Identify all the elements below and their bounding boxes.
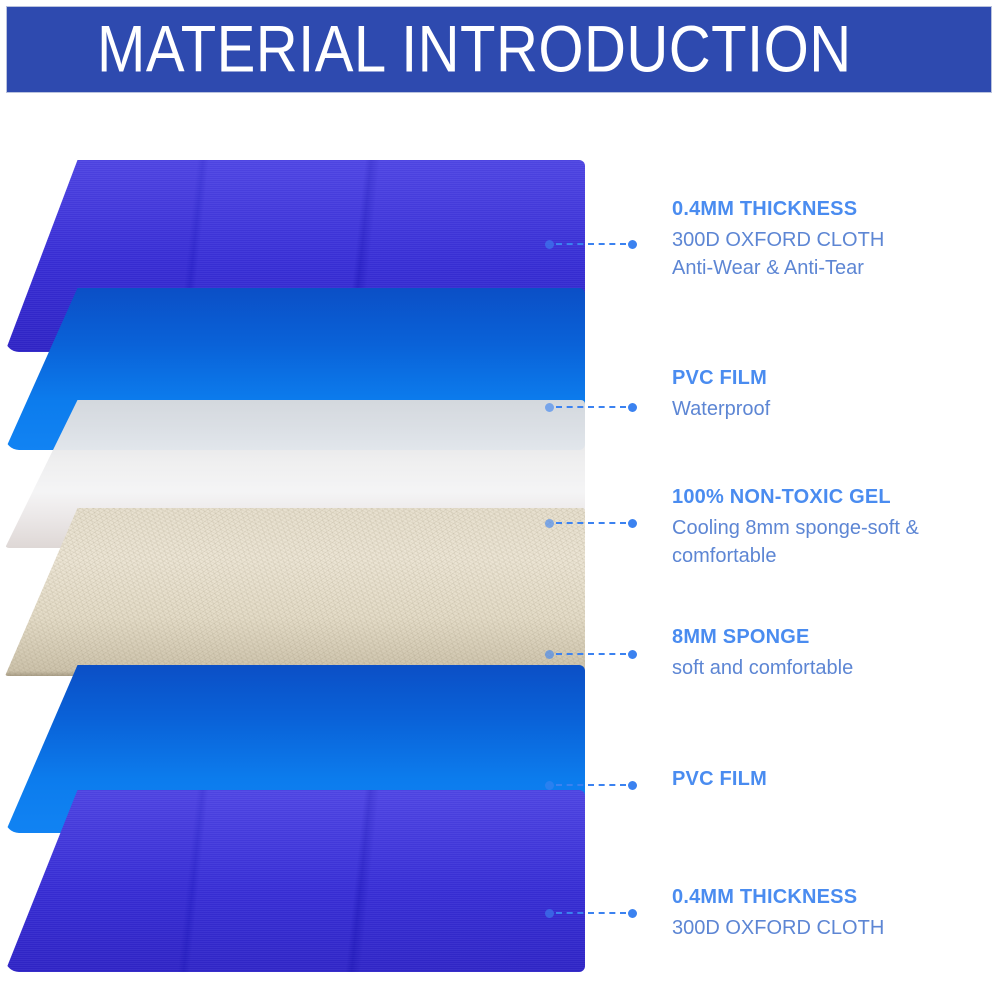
connector-end-dot-icon	[628, 519, 637, 528]
callout-title: 100% NON-TOXIC GEL	[672, 485, 992, 510]
connector-dashed-line	[556, 784, 626, 786]
connector-start-dot-icon	[545, 781, 554, 790]
connector-dashed-line	[556, 522, 626, 524]
connector-start-dot-icon	[545, 240, 554, 249]
callout-sponge: 8MM SPONGE soft and comfortable	[672, 625, 992, 682]
callout-line: Waterproof	[672, 395, 992, 423]
connector-gel	[545, 517, 637, 529]
connector-oxford-top	[545, 238, 637, 250]
callout-oxford-bottom: 0.4MM THICKNESS 300D OXFORD CLOTH	[672, 885, 992, 942]
connector-start-dot-icon	[545, 650, 554, 659]
connector-end-dot-icon	[628, 909, 637, 918]
layer-oxford-bottom-surface	[5, 790, 585, 972]
connector-oxford-bottom	[545, 907, 637, 919]
infographic-page: MATERIAL INTRODUCTION	[0, 0, 1001, 1001]
connector-dashed-line	[556, 243, 626, 245]
callout-title: PVC FILM	[672, 366, 992, 391]
callout-oxford-top: 0.4MM THICKNESS 300D OXFORD CLOTH Anti-W…	[672, 197, 992, 283]
callout-line: 300D OXFORD CLOTH	[672, 914, 992, 942]
callout-line: comfortable	[672, 542, 992, 570]
callout-gel: 100% NON-TOXIC GEL Cooling 8mm sponge-so…	[672, 485, 992, 571]
connector-end-dot-icon	[628, 240, 637, 249]
layer-sponge-surface	[5, 508, 585, 676]
callout-line: 300D OXFORD CLOTH	[672, 226, 992, 254]
connector-pvc-bottom	[545, 779, 637, 791]
connector-start-dot-icon	[545, 403, 554, 412]
connector-start-dot-icon	[545, 909, 554, 918]
callout-title: 0.4MM THICKNESS	[672, 885, 992, 910]
layer-oxford-bottom	[5, 790, 585, 972]
layer-sponge	[5, 508, 585, 676]
connector-start-dot-icon	[545, 519, 554, 528]
callout-pvc-top: PVC FILM Waterproof	[672, 366, 992, 423]
callout-line: soft and comfortable	[672, 654, 992, 682]
callout-title: PVC FILM	[672, 767, 992, 792]
connector-end-dot-icon	[628, 650, 637, 659]
callout-line: Cooling 8mm sponge-soft &	[672, 514, 992, 542]
connector-end-dot-icon	[628, 781, 637, 790]
callout-pvc-bottom: PVC FILM	[672, 767, 992, 796]
page-title: MATERIAL INTRODUCTION	[97, 15, 852, 81]
callout-line: Anti-Wear & Anti-Tear	[672, 254, 992, 282]
callout-title: 0.4MM THICKNESS	[672, 197, 992, 222]
connector-dashed-line	[556, 653, 626, 655]
connector-sponge	[545, 648, 637, 660]
connector-end-dot-icon	[628, 403, 637, 412]
connector-dashed-line	[556, 912, 626, 914]
layer-stack-diagram: 0.4MM THICKNESS 300D OXFORD CLOTH Anti-W…	[0, 100, 1001, 1001]
connector-pvc-top	[545, 401, 637, 413]
connector-dashed-line	[556, 406, 626, 408]
callout-title: 8MM SPONGE	[672, 625, 992, 650]
header-banner: MATERIAL INTRODUCTION	[6, 6, 992, 93]
